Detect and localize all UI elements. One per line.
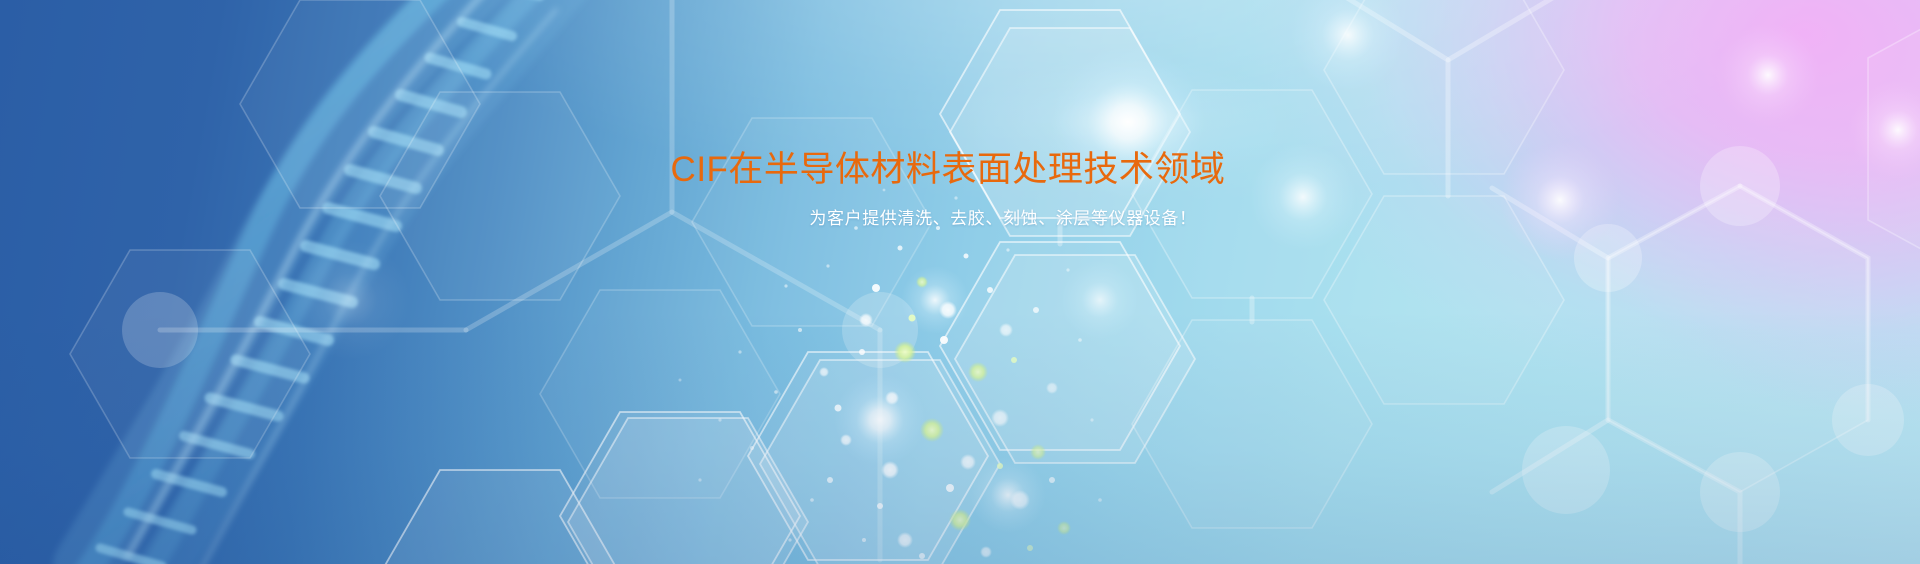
hero-banner: .hx { fill: rgba(255,255,255,0.055); str… [0, 0, 1920, 564]
banner-text-block: CIF在半导体材料表面处理技术领域 为客户提供清洗、去胶、刻蚀、涂层等仪器设备！ [0, 148, 1920, 231]
background-bottom-shade [0, 0, 1920, 564]
banner-headline: CIF在半导体材料表面处理技术领域 [0, 148, 1920, 192]
banner-subheadline: 为客户提供清洗、去胶、刻蚀、涂层等仪器设备！ [0, 206, 1920, 232]
